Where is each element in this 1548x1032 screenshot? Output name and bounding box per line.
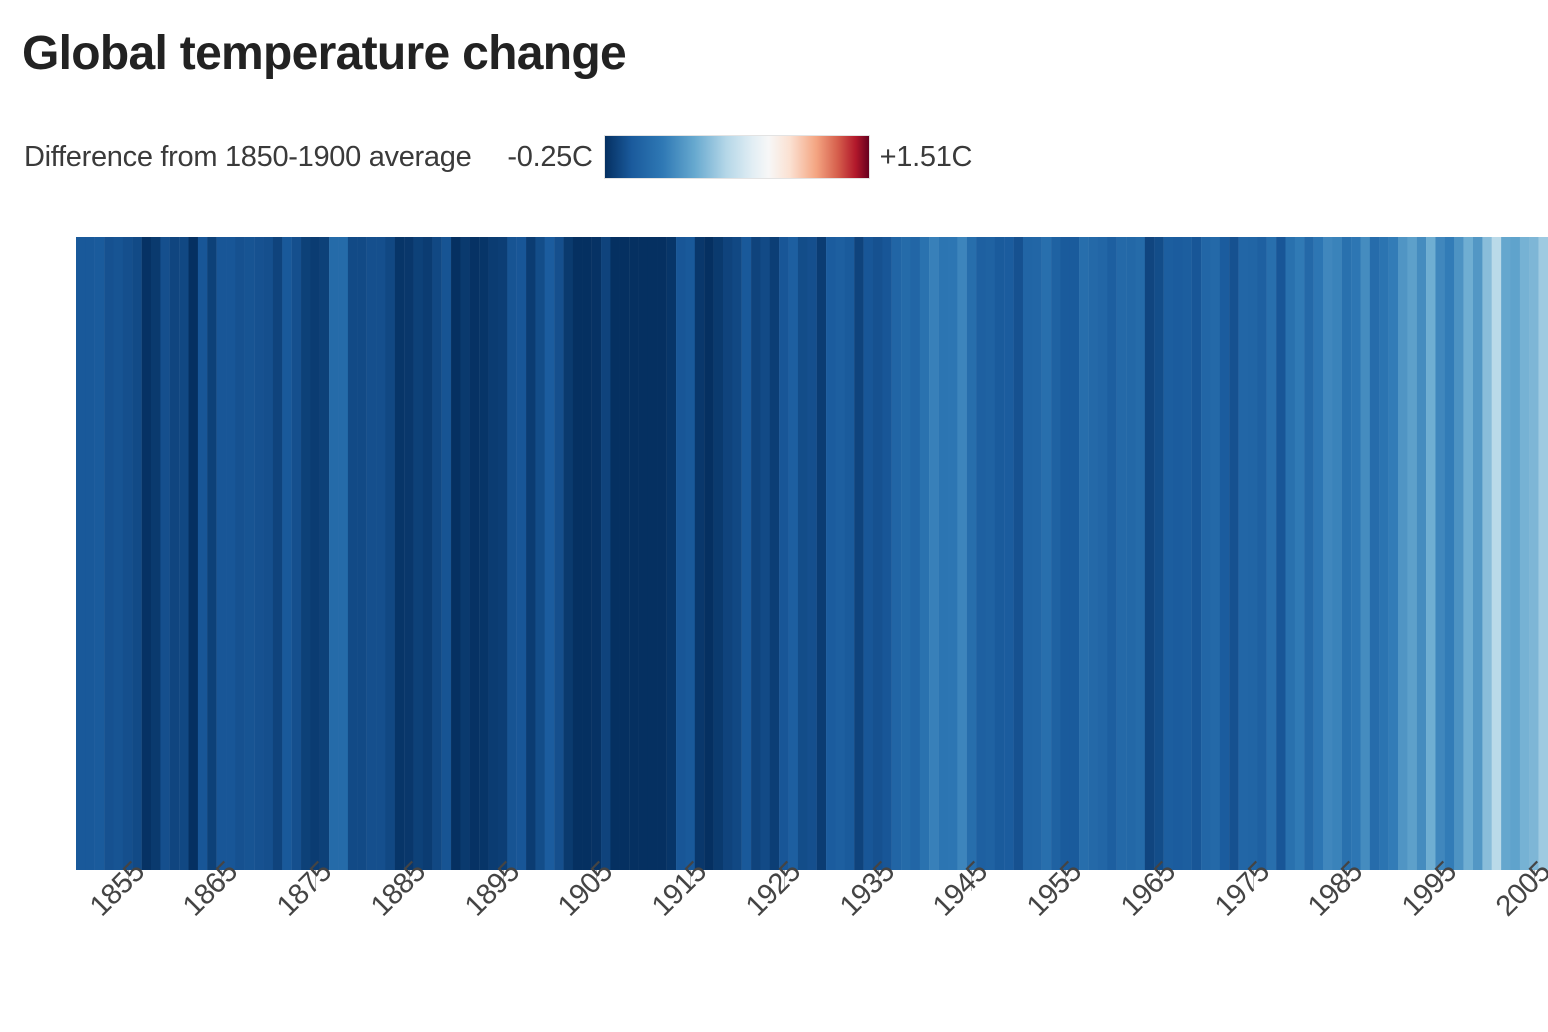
- year-stripe: [723, 237, 733, 870]
- year-stripe: [817, 237, 827, 870]
- year-stripe: [1389, 237, 1399, 870]
- year-stripe: [967, 237, 977, 870]
- year-stripe: [320, 237, 330, 870]
- year-stripe: [292, 237, 302, 870]
- year-stripe: [310, 237, 320, 870]
- year-stripe: [1089, 237, 1099, 870]
- year-stripe: [854, 237, 864, 870]
- stripes-svg: [76, 237, 1548, 870]
- year-stripe: [554, 237, 564, 870]
- year-stripe: [910, 237, 920, 870]
- year-stripe: [170, 237, 180, 870]
- year-stripe: [189, 237, 199, 870]
- year-stripe: [685, 237, 695, 870]
- year-stripe: [489, 237, 499, 870]
- year-stripe: [1323, 237, 1333, 870]
- year-stripe: [592, 237, 602, 870]
- year-stripe: [507, 237, 517, 870]
- year-stripe: [198, 237, 208, 870]
- year-stripe: [273, 237, 283, 870]
- year-stripe: [1042, 237, 1052, 870]
- year-stripe: [1154, 237, 1164, 870]
- year-stripe: [807, 237, 817, 870]
- year-stripe: [629, 237, 639, 870]
- year-stripe: [432, 237, 442, 870]
- year-stripe: [1201, 237, 1211, 870]
- year-stripe: [1454, 237, 1464, 870]
- year-stripe: [470, 237, 480, 870]
- year-stripe: [1501, 237, 1511, 870]
- year-stripe: [235, 237, 245, 870]
- year-stripe: [564, 237, 574, 870]
- year-stripe: [939, 237, 949, 870]
- year-stripe: [714, 237, 724, 870]
- year-stripe: [1126, 237, 1136, 870]
- year-stripe: [132, 237, 142, 870]
- year-stripe: [1248, 237, 1258, 870]
- year-stripe: [695, 237, 705, 870]
- year-stripe: [535, 237, 545, 870]
- year-stripe: [1314, 237, 1324, 870]
- year-stripe: [798, 237, 808, 870]
- year-stripe: [920, 237, 930, 870]
- legend-colorbar: [604, 135, 870, 179]
- year-stripe: [882, 237, 892, 870]
- year-stripe: [826, 237, 836, 870]
- year-stripe: [1332, 237, 1342, 870]
- year-stripe: [1098, 237, 1108, 870]
- year-stripe: [1164, 237, 1174, 870]
- year-stripe: [620, 237, 630, 870]
- year-stripe: [245, 237, 255, 870]
- year-stripe: [639, 237, 649, 870]
- year-stripe: [329, 237, 339, 870]
- year-stripe: [779, 237, 789, 870]
- year-stripe: [610, 237, 620, 870]
- year-stripe: [404, 237, 414, 870]
- year-stripe: [442, 237, 452, 870]
- year-stripe: [1023, 237, 1033, 870]
- year-stripe: [676, 237, 686, 870]
- year-stripe: [1210, 237, 1220, 870]
- year-stripe: [1304, 237, 1314, 870]
- year-stripe: [226, 237, 236, 870]
- year-stripe: [104, 237, 114, 870]
- year-stripe: [1145, 237, 1155, 870]
- year-stripe: [376, 237, 386, 870]
- year-stripe: [142, 237, 152, 870]
- year-stripe: [742, 237, 752, 870]
- year-stripe: [1473, 237, 1483, 870]
- year-stripe: [1079, 237, 1089, 870]
- year-stripe: [1360, 237, 1370, 870]
- year-stripe: [1417, 237, 1427, 870]
- year-stripe: [704, 237, 714, 870]
- year-stripe: [1351, 237, 1361, 870]
- year-stripe: [835, 237, 845, 870]
- year-stripe: [770, 237, 780, 870]
- year-stripe: [648, 237, 658, 870]
- year-stripe: [423, 237, 433, 870]
- year-stripe: [1276, 237, 1286, 870]
- year-stripe: [1529, 237, 1539, 870]
- year-stripe: [1342, 237, 1352, 870]
- year-stripe: [985, 237, 995, 870]
- year-stripe: [892, 237, 902, 870]
- year-stripe: [526, 237, 536, 870]
- legend-min-label: -0.25C: [507, 141, 592, 174]
- year-stripe: [873, 237, 883, 870]
- year-stripe: [1032, 237, 1042, 870]
- year-stripe: [254, 237, 264, 870]
- year-stripe: [95, 237, 105, 870]
- year-stripe: [1239, 237, 1249, 870]
- year-stripe: [751, 237, 761, 870]
- year-stripe: [357, 237, 367, 870]
- year-stripe: [1070, 237, 1080, 870]
- year-stripe: [348, 237, 358, 870]
- year-stripe: [339, 237, 349, 870]
- year-stripe: [264, 237, 274, 870]
- year-stripe: [901, 237, 911, 870]
- year-stripe: [301, 237, 311, 870]
- year-stripe: [948, 237, 958, 870]
- year-stripe: [179, 237, 189, 870]
- legend-max-label: +1.51C: [880, 141, 973, 174]
- year-stripe: [732, 237, 742, 870]
- year-stripe: [760, 237, 770, 870]
- year-stripe: [460, 237, 470, 870]
- year-stripe: [1407, 237, 1417, 870]
- year-stripe: [1004, 237, 1014, 870]
- year-stripe: [1370, 237, 1380, 870]
- year-stripe: [789, 237, 799, 870]
- legend: Difference from 1850-1900 average -0.25C…: [24, 134, 972, 180]
- year-stripe: [1060, 237, 1070, 870]
- year-stripe: [1117, 237, 1127, 870]
- year-stripe: [1510, 237, 1520, 870]
- year-stripe: [123, 237, 133, 870]
- year-stripe: [929, 237, 939, 870]
- year-stripe: [1482, 237, 1492, 870]
- year-stripe: [76, 237, 86, 870]
- year-stripe: [995, 237, 1005, 870]
- year-stripe: [160, 237, 170, 870]
- warming-stripes-figure: Global temperature change Difference fro…: [0, 0, 1548, 1032]
- year-stripe: [601, 237, 611, 870]
- chart-subtitle: Difference from 1850-1900 average: [24, 141, 471, 174]
- year-stripe: [1445, 237, 1455, 870]
- year-stripe: [1295, 237, 1305, 870]
- year-stripe: [1492, 237, 1502, 870]
- year-stripe: [517, 237, 527, 870]
- year-stripe: [207, 237, 217, 870]
- year-stripe: [1229, 237, 1239, 870]
- year-stripe: [1379, 237, 1389, 870]
- year-stripe: [217, 237, 227, 870]
- year-stripe: [1426, 237, 1436, 870]
- year-stripe: [545, 237, 555, 870]
- year-stripe: [1398, 237, 1408, 870]
- year-stripe: [657, 237, 667, 870]
- year-stripe: [151, 237, 161, 870]
- year-stripe: [451, 237, 461, 870]
- year-stripe: [667, 237, 677, 870]
- year-stripe: [1173, 237, 1183, 870]
- year-stripe: [1182, 237, 1192, 870]
- x-axis: 1855186518751885189519051915192519351945…: [0, 870, 1548, 1032]
- year-stripe: [1220, 237, 1230, 870]
- year-stripe: [498, 237, 508, 870]
- year-stripe: [385, 237, 395, 870]
- stripes-plot-area: [76, 237, 1548, 870]
- year-stripe: [1051, 237, 1061, 870]
- year-stripe: [976, 237, 986, 870]
- year-stripe: [573, 237, 583, 870]
- year-stripe: [114, 237, 124, 870]
- year-stripe: [1192, 237, 1202, 870]
- year-stripe: [1014, 237, 1024, 870]
- year-stripe: [1539, 237, 1548, 870]
- year-stripe: [1107, 237, 1117, 870]
- year-stripe: [845, 237, 855, 870]
- year-stripe: [1464, 237, 1474, 870]
- year-stripe: [1135, 237, 1145, 870]
- year-stripe: [414, 237, 424, 870]
- year-stripe: [864, 237, 874, 870]
- year-stripe: [582, 237, 592, 870]
- year-stripe: [1257, 237, 1267, 870]
- year-stripe: [1435, 237, 1445, 870]
- page-title: Global temperature change: [22, 26, 626, 81]
- year-stripe: [395, 237, 405, 870]
- year-stripe: [479, 237, 489, 870]
- year-stripe: [282, 237, 292, 870]
- year-stripe: [957, 237, 967, 870]
- year-stripe: [85, 237, 95, 870]
- year-stripe: [367, 237, 377, 870]
- year-stripe: [1285, 237, 1295, 870]
- year-stripe: [1267, 237, 1277, 870]
- year-stripe: [1520, 237, 1530, 870]
